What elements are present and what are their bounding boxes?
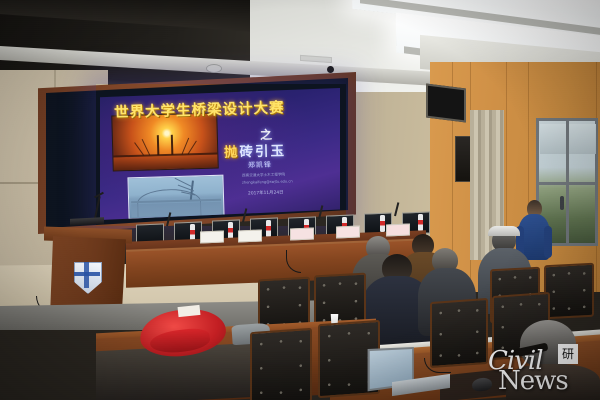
slide-meta-line1: 西南交通大学土木工程学院 [242, 171, 285, 178]
downlight-icon [206, 64, 222, 73]
water-bottle [418, 214, 423, 231]
name-card [290, 228, 314, 241]
conference-chair[interactable] [544, 263, 594, 320]
wall-mounted-monitor [426, 84, 466, 123]
arch-bridge-reflection-photo [127, 175, 224, 220]
name-card [386, 224, 410, 237]
slide-title: 世界大学生桥梁设计大赛 [114, 95, 335, 122]
slide-subtitle-b: 砖引玉 [239, 143, 286, 160]
slide-date: 2017年11月24日 [248, 190, 284, 197]
water-bottle [380, 215, 385, 232]
conference-chair[interactable] [250, 328, 312, 400]
slide-author: 郑凯锋 [248, 160, 272, 171]
presentation-slide: 世界大学生桥梁设计大赛 之 抛砖引玉 郑凯锋 西南交通大学土木工程学院 zhen… [100, 88, 340, 220]
watermark-line2: News [498, 366, 568, 396]
uniform-cap [488, 226, 520, 236]
ceiling-sensor-icon [327, 66, 334, 73]
slide-subtitle: 抛砖引玉 [224, 139, 287, 161]
watermark-badge: 研 [558, 344, 578, 364]
water-bottle [228, 222, 233, 239]
watermark: Civil 研 News [484, 346, 596, 398]
name-card [238, 230, 262, 243]
name-card [336, 226, 360, 239]
water-bottle [266, 220, 271, 237]
emblem-band [84, 262, 89, 288]
name-card [200, 231, 224, 244]
slide-subtitle-a: 抛 [224, 144, 240, 160]
conference-hall-photo: 世界大学生桥梁设计大赛 之 抛砖引玉 郑凯锋 西南交通大学土木工程学院 zhen… [0, 0, 600, 400]
slide-meta-line2: zhengkaifeng@swjtu.edu.cn [242, 178, 293, 185]
window-handle[interactable] [560, 196, 564, 210]
window-mullion [536, 182, 598, 185]
